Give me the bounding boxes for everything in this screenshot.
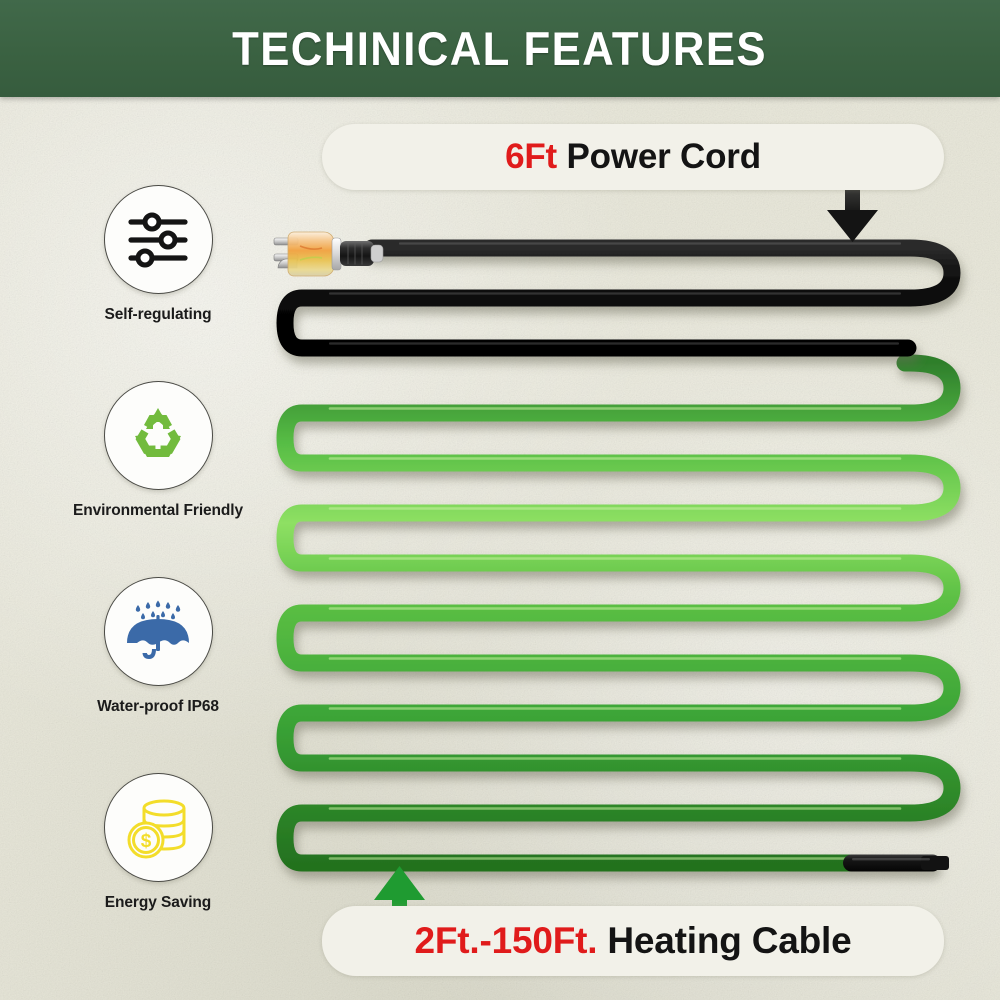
feature-label: Environmental Friendly <box>32 502 284 520</box>
power-cord-banner-text: 6Ft Power Cord <box>505 137 761 177</box>
power-cord-length: 6Ft <box>505 137 557 176</box>
recycle-icon <box>125 405 191 467</box>
infographic-page: TECHINICAL FEATURES <box>0 0 1000 1000</box>
coins-dollar-icon: $ <box>124 796 192 860</box>
heating-cable-banner-text: 2Ft.-150Ft. Heating Cable <box>414 920 851 962</box>
feature-item-self-regulating: Self-regulating <box>32 185 284 324</box>
page-title: TECHINICAL FEATURES <box>233 21 768 76</box>
sliders-icon <box>126 209 190 271</box>
three-prong-plug <box>272 224 390 286</box>
feature-label: Energy Saving <box>32 894 284 912</box>
svg-text:$: $ <box>141 831 152 852</box>
feature-icon-circle <box>104 577 213 686</box>
feature-label: Water-proof IP68 <box>32 698 284 716</box>
feature-icon-circle <box>104 185 213 294</box>
heating-cable-banner: 2Ft.-150Ft. Heating Cable <box>322 906 944 976</box>
feature-label: Self-regulating <box>32 306 284 324</box>
heating-cable-length: 2Ft.-150Ft. <box>414 920 597 961</box>
umbrella-rain-icon <box>124 599 192 665</box>
heating-cable-label: Heating Cable <box>597 920 851 961</box>
power-cord-label: Power Cord <box>557 137 761 176</box>
feature-item-waterproof: Water-proof IP68 <box>32 577 284 716</box>
feature-item-energy-saving: $ Energy Saving <box>32 773 284 912</box>
feature-item-environmental-friendly: Environmental Friendly <box>32 381 284 520</box>
header-bar: TECHINICAL FEATURES <box>0 0 1000 97</box>
feature-icon-circle: $ <box>104 773 213 882</box>
feature-icon-circle <box>104 381 213 490</box>
power-cord-banner: 6Ft Power Cord <box>322 124 944 190</box>
